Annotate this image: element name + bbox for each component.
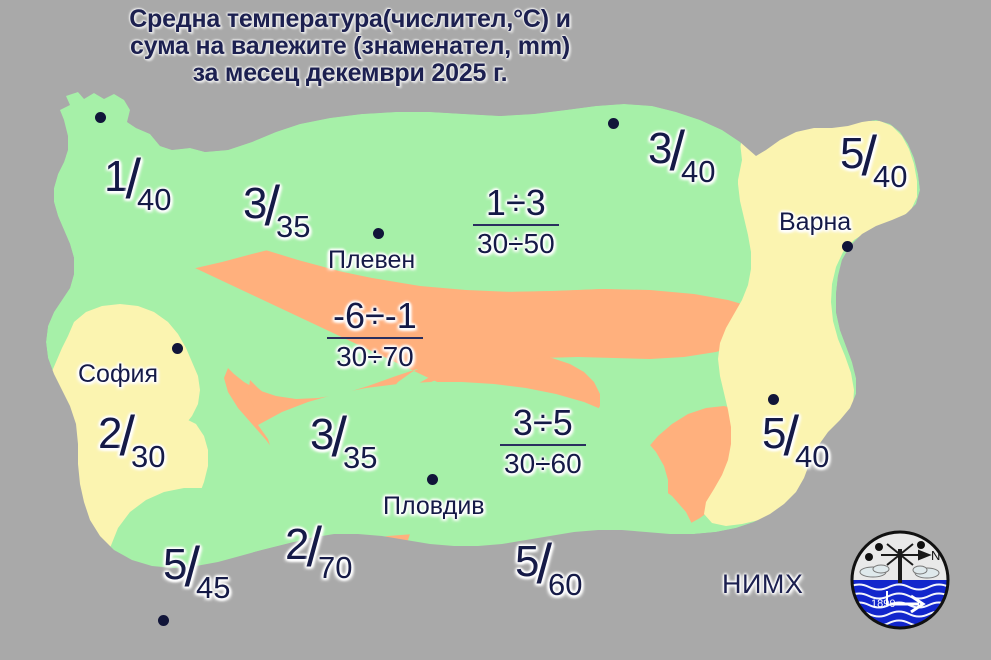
organization-abbreviation: НИМХ [722,569,803,600]
precipitation-value: 40 [873,157,907,197]
station-dot-southwest [158,615,169,626]
value-label-se-5-40: 5/40 [762,414,830,463]
city-dot-varna [842,241,853,252]
city-dot-sofia [172,343,183,354]
weather-map-page: Средна температура(числител,°C) и сума н… [0,0,991,660]
precipitation-value: 40 [795,437,829,477]
bulgaria-climate-map [0,0,991,660]
city-label-varna: Варна [779,208,851,237]
value-label-varna-5-40: 5/40 [840,134,908,183]
value-label-n-3-35: 3/35 [243,184,311,233]
value-label-s-3-35: 3/35 [310,415,378,464]
city-dot-pleven [373,228,384,239]
value-label-nw-1-40: 1/40 [104,157,172,206]
value-label-s-5-60: 5/60 [515,542,583,591]
fraction-rule [327,337,423,339]
value-label-ne-3-40: 3/40 [648,129,716,178]
station-dot-northeast [608,118,619,129]
fraction-rule [473,224,559,226]
temperature-range: -6÷-1 [327,298,423,336]
range-label-central: -6÷-1 30÷70 [327,298,423,371]
city-label-plovdiv: Пловдив [383,492,485,521]
temperature-range: 1÷3 [473,185,559,223]
precipitation-range: 30÷50 [473,229,559,258]
range-label-north: 1÷3 30÷50 [473,185,559,258]
precipitation-value: 40 [137,180,171,220]
station-dot-southeast [768,394,779,405]
precipitation-value: 35 [343,438,377,478]
precipitation-range: 30÷70 [327,342,423,371]
value-label-sc-2-70: 2/70 [285,525,353,574]
nimh-logo-emblem: 1890 N [847,527,953,633]
precipitation-value: 70 [318,548,352,588]
precipitation-value: 60 [548,565,582,605]
precipitation-value: 40 [681,152,715,192]
precipitation-value: 35 [276,207,310,247]
logo-sea [847,580,953,633]
precipitation-value: 45 [196,568,230,608]
value-label-sofia-2-30: 2/30 [98,414,166,463]
city-label-pleven: Плевен [328,246,415,275]
temperature-range: 3÷5 [500,405,586,443]
city-label-sofia: София [78,360,158,389]
range-label-south: 3÷5 30÷60 [500,405,586,478]
logo-year: 1890 [871,598,895,610]
fraction-rule [500,444,586,446]
precipitation-value: 30 [131,437,165,477]
city-dot-plovdiv [427,474,438,485]
precipitation-range: 30÷60 [500,449,586,478]
station-dot-northwest [95,112,106,123]
value-label-sw-5-45: 5/45 [163,545,231,594]
